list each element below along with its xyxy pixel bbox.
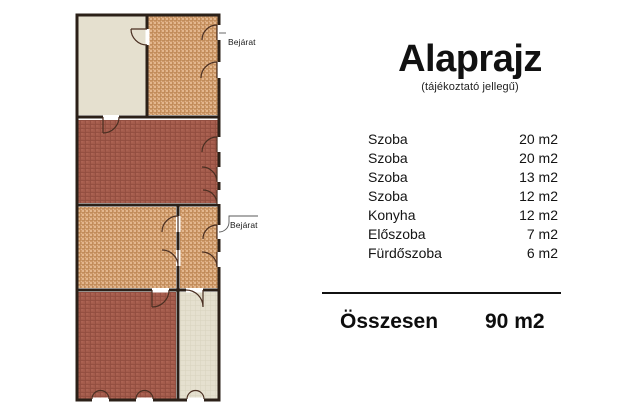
room-name: Szoba — [368, 168, 486, 187]
total-label: Összesen — [340, 310, 485, 334]
floorplan-svg — [0, 0, 300, 418]
floorplan-page: Bejárat Bejárat Alaprajz (tájékoztató je… — [0, 0, 640, 418]
page-title: Alaprajz — [300, 40, 640, 78]
room-schedule-list: Szoba20 m2Szoba20 m2Szoba13 m2Szoba12 m2… — [368, 130, 593, 263]
room-fill-middle — [78, 120, 218, 203]
floorplan-drawing: Bejárat Bejárat — [0, 0, 300, 418]
page-subtitle: (tájékoztató jellegű) — [300, 81, 640, 93]
room-name: Fürdőszoba — [368, 244, 486, 263]
room-name: Konyha — [368, 206, 486, 225]
room-row: Szoba13 m2 — [368, 168, 593, 187]
room-fill-bottom-left — [78, 292, 176, 399]
room-fill-upper-left — [78, 16, 146, 115]
total-area: 90 m2 — [485, 310, 590, 334]
room-name: Szoba — [368, 130, 486, 149]
room-area: 7 m2 — [486, 225, 558, 244]
total-row: Összesen 90 m2 — [340, 310, 590, 334]
room-name: Szoba — [368, 149, 486, 168]
entrance-label-top: Bejárat — [228, 37, 256, 47]
room-area: 12 m2 — [486, 187, 558, 206]
room-row: Szoba20 m2 — [368, 149, 593, 168]
room-area: 13 m2 — [486, 168, 558, 187]
room-fill-lower-left-hatch — [78, 207, 176, 288]
room-fill-lower-right-hatch — [180, 207, 218, 288]
room-area: 6 m2 — [486, 244, 558, 263]
room-row: Konyha12 m2 — [368, 206, 593, 225]
room-row: Szoba12 m2 — [368, 187, 593, 206]
room-name: Előszoba — [368, 225, 486, 244]
room-area: 12 m2 — [486, 206, 558, 225]
room-name: Szoba — [368, 187, 486, 206]
info-panel: Alaprajz (tájékoztató jellegű) Szoba20 m… — [300, 0, 640, 418]
room-row: Szoba20 m2 — [368, 130, 593, 149]
room-area: 20 m2 — [486, 130, 558, 149]
entrance-label-bottom: Bejárat — [230, 220, 258, 230]
room-fill-bottom-right — [180, 292, 218, 399]
room-area: 20 m2 — [486, 149, 558, 168]
room-row: Előszoba7 m2 — [368, 225, 593, 244]
label-leaders — [219, 33, 258, 232]
room-row: Fürdőszoba6 m2 — [368, 244, 593, 263]
schedule-divider — [322, 292, 561, 294]
title-block: Alaprajz (tájékoztató jellegű) — [300, 40, 640, 93]
